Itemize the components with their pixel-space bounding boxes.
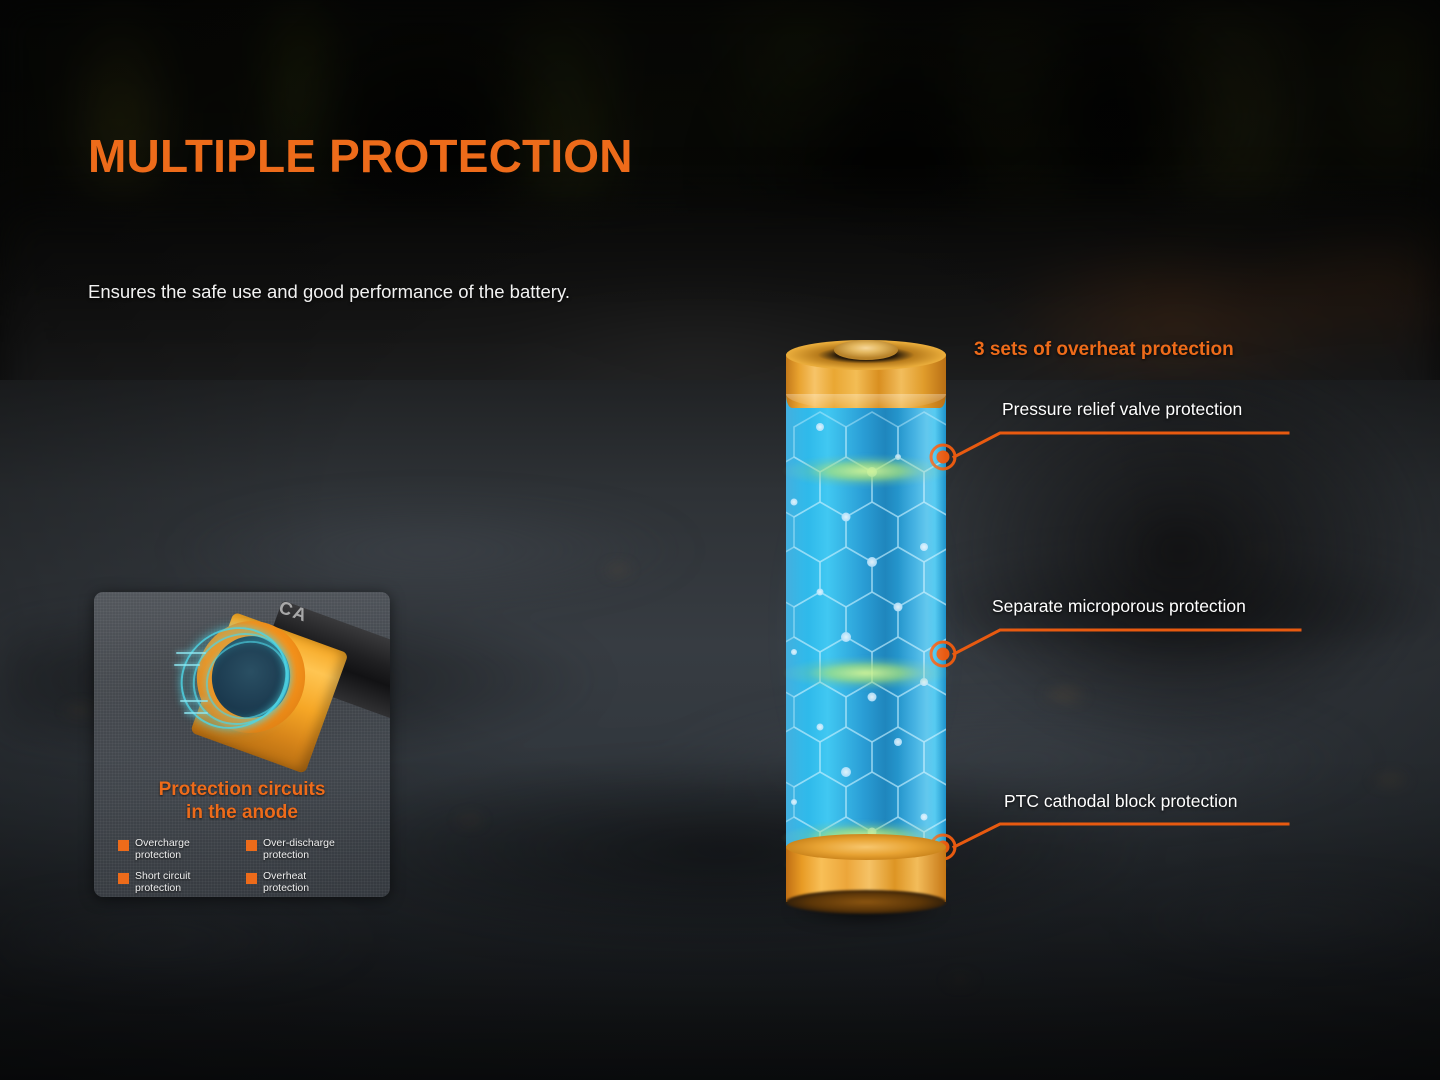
inset-title-line-1: Protection circuits [159,779,326,800]
feature-line-1: Overcharge [135,837,190,849]
feature-line-2: protection [263,849,309,861]
battery-terminal-nub [834,340,898,360]
feature-line-1: Short circuit [135,870,190,882]
callout-label-pressure-relief-valve: Pressure relief valve protection [1002,399,1242,420]
battery-illustration [786,338,946,912]
circuit-dash-icon [184,712,208,714]
inset-panel-title: Protection circuits in the anode [94,778,390,824]
separator-disc-middle [782,656,950,690]
separator-disc-top [782,454,950,488]
inset-title-line-2: in the anode [186,802,298,823]
feature-item-short-circuit: Short circuit protection [118,871,246,894]
feature-line-2: protection [135,849,181,861]
feature-label: Short circuit protection [135,871,190,894]
anode-cap-photo: CA [94,592,390,777]
feature-item-over-discharge: Over-discharge protection [246,838,376,861]
battery-positive-cap [786,338,946,408]
feature-item-overheat: Overheat protection [246,871,376,894]
feature-item-overcharge: Overcharge protection [118,838,246,861]
feature-line-2: protection [135,882,181,894]
feature-label: Overcharge protection [135,838,190,861]
battery-translucent-body [786,366,946,886]
battery-negative-base [786,840,946,912]
overheat-protection-heading: 3 sets of overheat protection [974,339,1234,361]
bullet-square-icon [246,873,257,884]
circuit-dash-icon [176,652,206,654]
protection-circuits-inset-panel: CA Protection circuits in the anode Over… [94,592,390,897]
circuit-dash-icon [174,664,200,666]
page-subtitle: Ensures the safe use and good performanc… [88,274,648,310]
feature-line-1: Overheat [263,870,306,882]
feature-label: Over-discharge protection [263,838,335,861]
slide-canvas: MULTIPLE PROTECTION Ensures the safe use… [0,0,1440,1080]
feature-line-2: protection [263,882,309,894]
page-title: MULTIPLE PROTECTION [88,133,633,179]
bullet-square-icon [118,873,129,884]
circuit-dash-icon [180,700,208,702]
bullet-square-icon [246,840,257,851]
callout-label-separate-microporous: Separate microporous protection [992,596,1246,617]
feature-line-1: Over-discharge [263,837,335,849]
bullet-square-icon [118,840,129,851]
feature-label: Overheat protection [263,871,309,894]
callout-label-ptc-cathodal-block: PTC cathodal block protection [1004,791,1237,812]
protection-feature-list: Overcharge protection Over-discharge pro… [118,838,376,894]
